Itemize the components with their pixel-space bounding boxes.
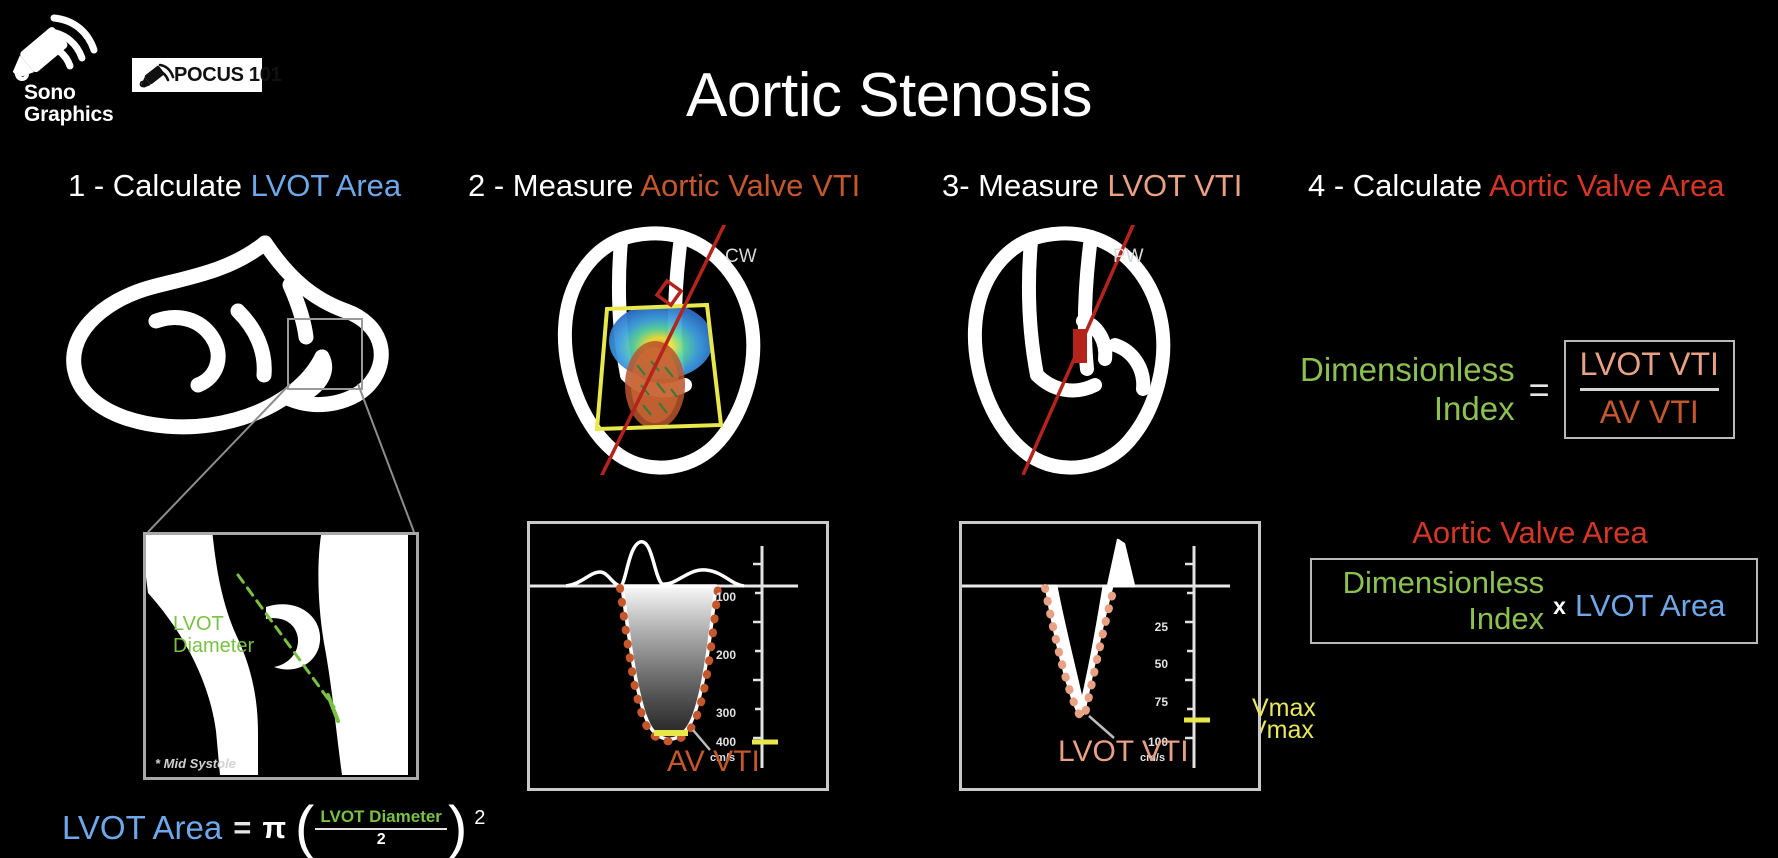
av-vti-caption: AV VTI [667,745,760,779]
heart-apical-illustration-pw [965,225,1195,475]
dimensionless-index-equation: DimensionlessIndex = LVOT VTI AV VTI [1300,340,1735,439]
step-3-highlight: LVOT VTI [1107,168,1242,203]
step-1-prefix: 1 - Calculate [68,168,251,203]
lvot-vti-caption: LVOT VTI [1058,735,1189,769]
close-paren: ) [448,805,467,850]
step-2-prefix: 2 - Measure [468,168,640,203]
step-header-1: 1 - Calculate LVOT Area [68,170,401,201]
lvot-area-formula: LVOT Area = π ( LVOT Diameter 2 ) 2 [62,805,485,850]
page-title: Aortic Stenosis [0,60,1778,131]
vmax-marker [752,732,816,756]
equals-sign: = [233,810,251,846]
scale-tick-25: 25 [1142,620,1168,634]
step-4-prefix: 4 - Calculate [1308,168,1489,203]
aortic-valve-area-title: Aortic Valve Area [1300,515,1760,551]
step-1-highlight: LVOT Area [251,168,402,203]
di-fraction-box: LVOT VTI AV VTI [1564,340,1735,439]
mid-systole-footnote: * Mid Systole [155,756,236,771]
lvot-diameter-fraction: LVOT Diameter 2 [315,807,447,849]
pi-symbol: π [262,810,286,846]
ava-factor2-label: LVOT Area [1575,588,1726,624]
pw-sample-gate [1073,329,1087,363]
slide-canvas: SonoGraphics POCUS 101 Aortic Stenosis 1… [0,0,1778,858]
fraction-numerator: LVOT VTI [1580,346,1719,386]
scale-tick-200: 200 [710,648,736,662]
fraction-denominator: 2 [315,830,447,849]
equals-sign: = [1529,369,1550,411]
step-header-2: 2 - Measure Aortic Valve VTI [468,170,860,201]
step-4-highlight: Aortic Valve Area [1489,168,1724,203]
step-2-highlight: Aortic Valve VTI [640,168,860,203]
open-paren: ( [295,805,314,850]
scale-tick-100: 100 [710,590,736,604]
step-header-4: 4 - Calculate Aortic Valve Area [1308,170,1724,201]
scale-tick-50: 50 [1142,657,1168,671]
pw-vmax-label: Vmax [1252,694,1316,723]
fraction-numerator: LVOT Diameter [315,807,447,828]
vmax-marker [1184,710,1248,734]
step-3-prefix: 3- Measure [942,168,1107,203]
step-header-3: 3- Measure LVOT VTI [942,170,1242,201]
lvot-zoom-inset: LVOTDiameter * Mid Systole [143,532,419,780]
aortic-valve-area-equation: DimensionlessIndex x LVOT Area [1310,558,1758,644]
pw-mode-label: PW [1113,246,1144,268]
scale-tick-75: 75 [1142,695,1168,709]
exponent: 2 [474,807,485,830]
fraction-rule [1580,388,1719,391]
vmax-caliper [654,730,688,736]
multiply-operator: x [1553,593,1566,620]
fraction-denominator: AV VTI [1580,394,1719,431]
lvot-area-label: LVOT Area [62,809,222,847]
cw-mode-label: CW [725,246,757,268]
dimensionless-index-label: DimensionlessIndex [1300,351,1515,429]
scale-tick-300: 300 [710,706,736,720]
zoom-connector-lines [140,376,420,536]
lvot-diameter-label: LVOTDiameter [173,613,254,658]
ava-factor1-label: DimensionlessIndex [1343,565,1545,636]
